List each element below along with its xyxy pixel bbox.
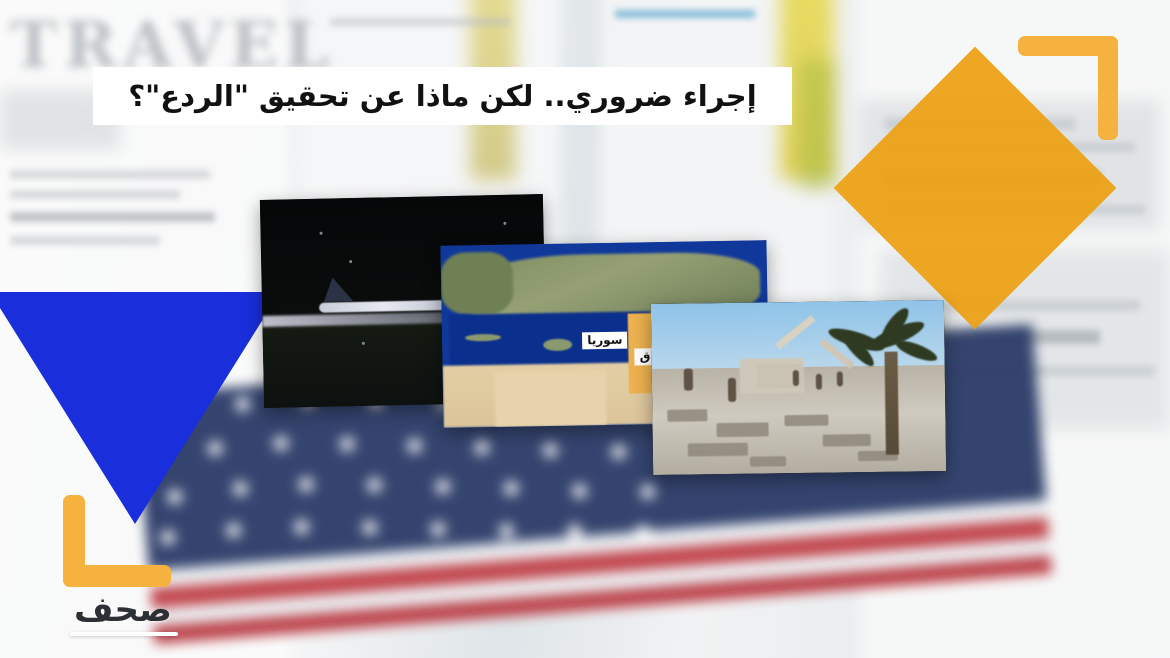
flag-star: ★ [606, 438, 631, 466]
flag-star: ★ [538, 437, 563, 465]
debris [823, 434, 871, 447]
flag-star: ★ [402, 432, 427, 460]
headline-band: إجراء ضروري.. لكن ماذا عن تحقيق "الردع"؟ [93, 67, 792, 125]
flag-star: ★ [567, 478, 592, 506]
background-text-line [10, 212, 215, 222]
flag-star: ★ [562, 518, 587, 546]
promo-graphic: TRAVEL TRAVEL ★ ★ ★ ★ ★ ★ ★ [0, 0, 1170, 658]
background-green-strip [800, 60, 834, 190]
flag-star: ★ [499, 475, 524, 503]
palm-tree-trunk [885, 352, 899, 455]
flag-star: ★ [362, 472, 387, 500]
headline-text: إجراء ضروري.. لكن ماذا عن تحقيق "الردع"؟ [128, 79, 756, 113]
photo-airstrike-rubble [651, 300, 946, 475]
debris [667, 409, 707, 422]
flag-star: ★ [469, 434, 494, 462]
person [816, 373, 822, 389]
flag-star: ★ [426, 516, 451, 544]
background-text-line [10, 236, 160, 245]
background-text-line [330, 18, 510, 26]
light-dot [362, 341, 365, 344]
logo-word: صحف [74, 592, 172, 628]
person [728, 378, 736, 402]
bracket-bottom-left-horizontal [63, 565, 171, 587]
person [684, 368, 693, 390]
map-landmass-egypt [495, 370, 607, 427]
map-label-syria: سوريا [582, 332, 628, 350]
logo[interactable]: صحف [60, 490, 190, 638]
flag-star: ★ [630, 519, 655, 547]
background-text-line [10, 190, 180, 199]
flag-star: ★ [494, 517, 519, 545]
flag-star: ★ [357, 514, 382, 542]
debris [717, 422, 769, 437]
flag-star: ★ [289, 513, 314, 541]
jet-tail-fin [324, 277, 353, 302]
background-text-line [10, 170, 210, 179]
flag-star: ★ [294, 471, 319, 499]
map-landmass-greece [441, 252, 514, 315]
person [836, 371, 842, 386]
debris [750, 456, 786, 467]
debris [688, 443, 748, 457]
debris [784, 414, 828, 426]
flag-star: ★ [430, 473, 455, 501]
bracket-top-right-vertical [1098, 36, 1118, 140]
flag-star: ★ [635, 478, 660, 506]
flag-star: ★ [335, 431, 360, 459]
background-text-line [615, 10, 755, 18]
person [792, 370, 798, 386]
logo-underline [70, 632, 178, 636]
